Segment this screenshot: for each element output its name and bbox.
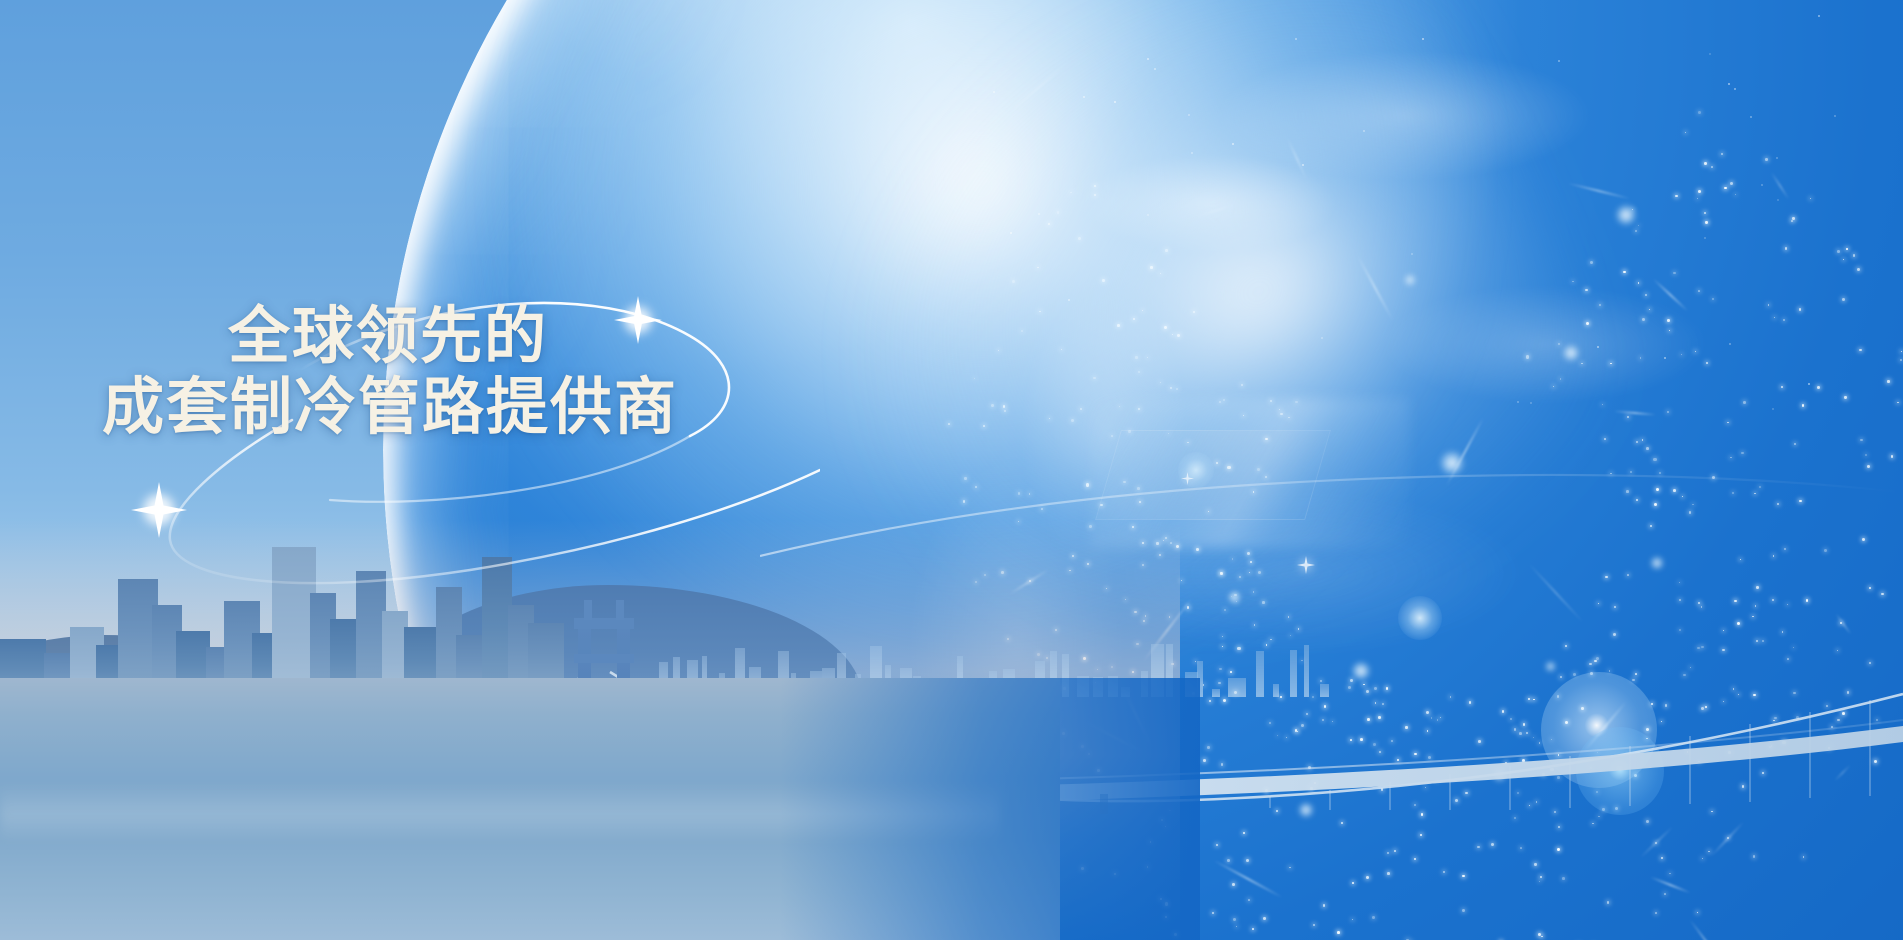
headline-line-1: 全球领先的 <box>228 302 860 373</box>
city-skyline-silhouette <box>0 547 560 697</box>
hero-banner: 全球领先的 成套制冷管路提供商 <box>0 0 1903 940</box>
far-skyline-building <box>1304 645 1309 697</box>
headline-line-2: 成套制冷管路提供商 <box>102 373 860 444</box>
far-skyline-building <box>1256 651 1264 697</box>
far-skyline-building <box>1241 678 1246 697</box>
hero-headline: 全球领先的 成套制冷管路提供商 <box>100 302 860 443</box>
water-blue-fade <box>780 678 1200 940</box>
far-skyline-building <box>1228 678 1241 697</box>
far-skyline-building <box>1212 689 1220 697</box>
far-skyline-building <box>1290 650 1297 697</box>
far-skyline-building <box>1320 684 1329 697</box>
far-skyline-building <box>1273 684 1279 697</box>
